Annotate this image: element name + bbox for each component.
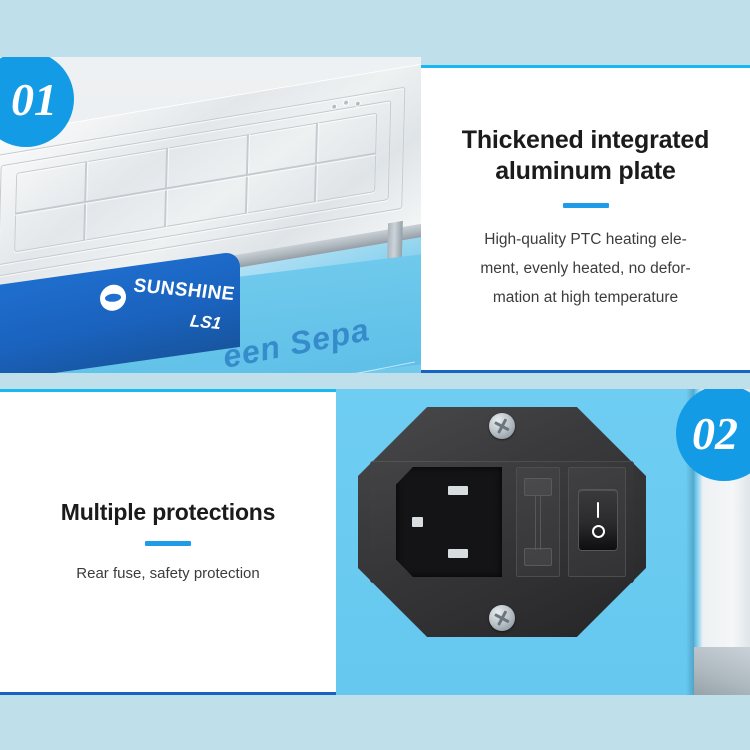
feature-section-02: Multiple protections Rear fuse, safety p…	[0, 389, 750, 695]
desc-line-2: ment, evenly heated, no defor-	[480, 260, 690, 277]
chassis-corner	[694, 647, 750, 695]
feature-description-02: Rear fuse, safety protection	[76, 562, 259, 586]
socket-pin-live	[448, 486, 468, 495]
socket-pin-earth	[412, 517, 423, 527]
iec-power-inlet-module	[358, 407, 646, 637]
feature-card-01: Thickened integrated aluminum plate High…	[421, 65, 750, 373]
feature-section-01: SUNSHINE LS1 een Sepa Screen Separator -…	[0, 57, 750, 373]
inlet-face-plate	[370, 461, 634, 583]
desc-line-1: High-quality PTC heating ele-	[484, 231, 686, 248]
fuse-cap-bottom	[524, 548, 552, 566]
mounting-screw-icon	[489, 605, 515, 631]
fuse-holder[interactable]	[516, 467, 560, 577]
desc-line-3: mation at high temperature	[493, 289, 678, 306]
product-photo-power-inlet: 02	[336, 389, 750, 695]
feature-title-line-2: aluminum plate	[495, 157, 676, 185]
rocker-switch-well	[568, 467, 626, 577]
mounting-screw-icon	[489, 413, 515, 439]
c14-socket	[396, 467, 502, 577]
feature-title-01: Thickened integrated aluminum plate	[462, 125, 709, 187]
power-rocker-switch[interactable]	[579, 490, 617, 550]
product-feature-page: SUNSHINE LS1 een Sepa Screen Separator -…	[0, 0, 750, 750]
product-photo-aluminum-plate: SUNSHINE LS1 een Sepa Screen Separator -…	[0, 57, 421, 373]
feature-title-02: Multiple protections	[61, 498, 276, 527]
title-accent-divider	[563, 203, 609, 208]
power-off-mark-icon	[592, 525, 605, 538]
fuse-cap-top	[524, 478, 552, 496]
brand-name-label: SUNSHINE	[132, 275, 236, 306]
fuse-body	[535, 496, 541, 550]
power-on-mark-icon	[597, 502, 600, 518]
product-model-label: LS1	[189, 311, 223, 334]
feature-description-01: High-quality PTC heating ele- ment, even…	[480, 226, 690, 312]
title-accent-divider	[145, 541, 191, 546]
feature-card-02: Multiple protections Rear fuse, safety p…	[0, 389, 336, 695]
sunshine-logo-icon	[100, 284, 126, 312]
socket-pin-neutral	[448, 549, 468, 558]
feature-title-line-1: Thickened integrated	[462, 126, 709, 154]
